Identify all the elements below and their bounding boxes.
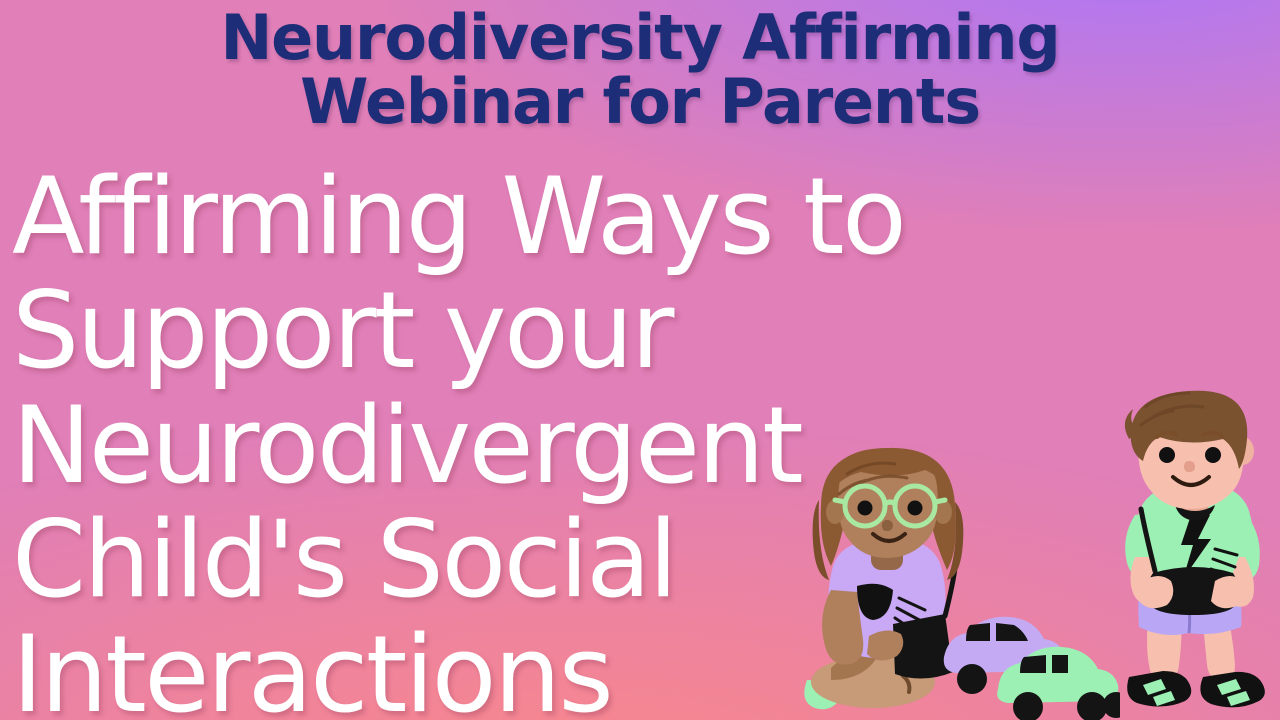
page-title: Affirming Ways to Support your Neurodive… xyxy=(12,160,1092,720)
webinar-promo-slide: Neurodiversity Affirming Webinar for Par… xyxy=(0,0,1280,720)
webinar-series-header: Neurodiversity Affirming Webinar for Par… xyxy=(0,6,1280,134)
